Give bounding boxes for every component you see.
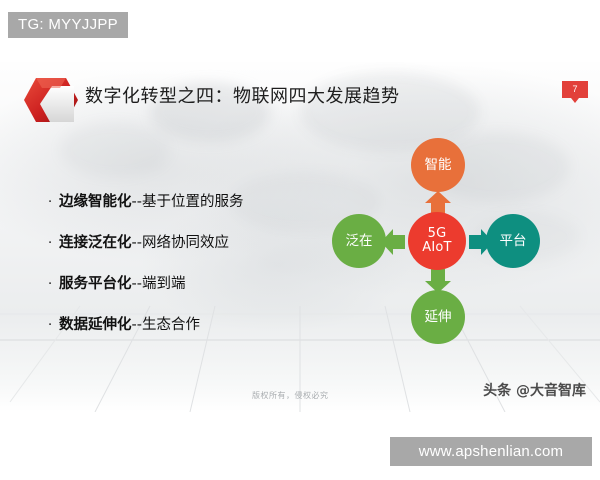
diagram-node-platform[interactable]: 平台 bbox=[486, 214, 540, 268]
url-watermark: www.apshenlian.com bbox=[390, 437, 592, 466]
bullet-tail: --网络协同效应 bbox=[132, 235, 229, 251]
bullet-tail: --端到端 bbox=[132, 276, 186, 292]
bullet-head: 边缘智能化 bbox=[59, 194, 132, 210]
bullet-list: · 边缘智能化--基于位置的服务 · 连接泛在化--网络协同效应 · 服务平台化… bbox=[48, 190, 328, 354]
bullet-head: 连接泛在化 bbox=[59, 235, 132, 251]
node-label: 泛在 bbox=[346, 234, 373, 249]
bullet-marker-icon: · bbox=[48, 196, 59, 209]
diagram-node-5g-aiot[interactable]: 5G AIoT bbox=[408, 212, 466, 270]
diagram-node-extension[interactable]: 延伸 bbox=[411, 290, 465, 344]
channel-credit: 头条 @大音智库 bbox=[483, 380, 586, 400]
node-label-line1: 5G bbox=[428, 227, 447, 241]
diagram-node-intelligence[interactable]: 智能 bbox=[411, 138, 465, 192]
copyright-notice: 版权所有，侵权必究 bbox=[252, 390, 329, 401]
map-texture-blob bbox=[60, 122, 170, 177]
node-label: 延伸 bbox=[425, 310, 452, 325]
slide-canvas: 数字化转型之四：物联网四大发展趋势 7 · 边缘智能化--基于位置的服务 · 连… bbox=[0, 62, 600, 412]
list-item: · 服务平台化--端到端 bbox=[48, 272, 328, 293]
diagram-node-ubiquitous[interactable]: 泛在 bbox=[332, 214, 386, 268]
bullet-head: 数据延伸化 bbox=[59, 317, 132, 333]
bullet-tail: --生态合作 bbox=[132, 317, 200, 333]
page-title: 数字化转型之四：物联网四大发展趋势 bbox=[85, 82, 400, 108]
bullet-marker-icon: · bbox=[48, 278, 59, 291]
bullet-head: 服务平台化 bbox=[59, 276, 132, 292]
bullet-tail: --基于位置的服务 bbox=[132, 194, 244, 210]
hexagon-logo-icon bbox=[16, 74, 82, 130]
node-label: 智能 bbox=[425, 158, 452, 173]
list-item: · 连接泛在化--网络协同效应 bbox=[48, 231, 328, 252]
node-label: 平台 bbox=[500, 234, 527, 249]
node-label-line2: AIoT bbox=[422, 241, 451, 255]
list-item: · 边缘智能化--基于位置的服务 bbox=[48, 190, 328, 211]
tg-watermark: TG: MYYJJPP bbox=[8, 12, 128, 38]
list-item: · 数据延伸化--生态合作 bbox=[48, 313, 328, 334]
page-number-badge: 7 bbox=[562, 81, 588, 98]
bullet-marker-icon: · bbox=[48, 319, 59, 332]
bullet-marker-icon: · bbox=[48, 237, 59, 250]
iot-trend-diagram: 智能 泛在 5G AIoT 平台 延伸 bbox=[318, 130, 578, 380]
